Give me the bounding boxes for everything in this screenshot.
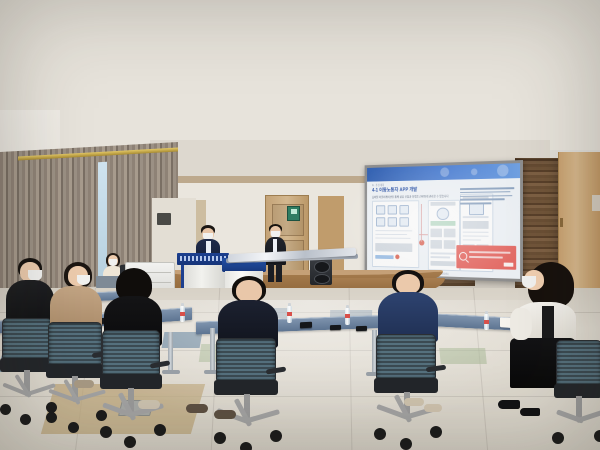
slide-title: 4-1 이동노동자 APP 개발 (372, 186, 417, 193)
slide-icon (399, 217, 408, 226)
presentation-slide: Ⅳ. 추진계획 4-1 이동노동자 APP 개발 모바일 어플리케이션을 통해 … (367, 163, 520, 279)
attendee-shoe (186, 404, 208, 413)
wall-mounted-device (157, 213, 171, 225)
attendee-shoe (214, 410, 236, 419)
door-handle[interactable] (560, 218, 563, 227)
slide-icon (376, 217, 385, 226)
attendee-arm (510, 308, 532, 340)
water-bottle[interactable] (484, 314, 489, 330)
podium-nameplate (180, 256, 226, 261)
attendee-shoe (138, 400, 160, 409)
slide-icon (388, 205, 397, 214)
slide-icon (399, 205, 408, 214)
chair-6[interactable] (552, 340, 600, 446)
back-wall (0, 0, 600, 150)
attendee-shoe (424, 404, 442, 412)
staff-face-mask (109, 259, 117, 266)
slide-header-decor-icon (440, 167, 449, 177)
chair-5[interactable] (374, 334, 448, 446)
seminar-room-photo: Ⅳ. 추진계획 4-1 이동노동자 APP 개발 모바일 어플리케이션을 통해 … (0, 0, 600, 450)
slide-callout-line (469, 256, 503, 259)
slide-flow-node (395, 254, 399, 259)
emergency-exit-sign (287, 206, 300, 221)
speaker-driver (314, 261, 330, 273)
slide-mockup-table (463, 221, 489, 229)
slide-icon (388, 217, 397, 226)
slide-mockup-tile (444, 229, 456, 238)
slide-callout-box (456, 245, 516, 270)
attendee-head (236, 280, 262, 302)
slide-header-decor-icon (497, 164, 508, 176)
slide-connector (421, 204, 422, 242)
slide-header-decor-icon (471, 168, 477, 175)
slide-block (375, 243, 412, 252)
slide-mockup-banner (431, 221, 456, 226)
attendee-head (396, 274, 420, 294)
floor-speaker (310, 257, 332, 285)
chair-3[interactable] (100, 330, 172, 446)
face-mask (77, 275, 90, 285)
smartphone[interactable] (356, 326, 367, 331)
attendee-shoe (498, 400, 520, 409)
chair-4[interactable] (214, 338, 288, 450)
assistant-shirt (273, 239, 277, 252)
projection-screen: Ⅳ. 추진계획 4-1 이동노동자 APP 개발 모바일 어플리케이션을 통해 … (365, 160, 523, 282)
slide-mockup-statusbar (431, 202, 456, 206)
water-bottle[interactable] (287, 306, 292, 323)
slide-mockup-tile (431, 240, 442, 249)
slide-subtitle: 모바일 어플리케이션을 통해 상담 신청과 이력을 간편하게 관리할 수 있습니… (372, 194, 449, 199)
slide-mockup-tile (444, 240, 456, 249)
slide-header-bar (367, 163, 520, 182)
slide-side-note (460, 187, 516, 206)
smartphone[interactable] (300, 322, 312, 329)
slide-mockup-avatar-icon (437, 208, 449, 220)
slide-mockup-tile (431, 229, 442, 238)
slide-callout-line (469, 251, 510, 254)
speaker-driver (314, 274, 330, 284)
magnifier-icon (459, 252, 467, 261)
slide-mockup-footer (431, 261, 456, 266)
wall-switch-plate[interactable] (592, 195, 600, 211)
attendee-shoe (74, 380, 94, 388)
slide-icon (376, 205, 385, 214)
smartphone[interactable] (330, 325, 341, 330)
face-mask (522, 276, 536, 288)
attendee-shoe (520, 408, 540, 416)
attendee-shoe (404, 398, 424, 406)
water-bottle[interactable] (180, 306, 185, 322)
water-bottle[interactable] (345, 308, 350, 325)
slide-button-block (375, 255, 393, 259)
slide-text-line (463, 216, 489, 218)
